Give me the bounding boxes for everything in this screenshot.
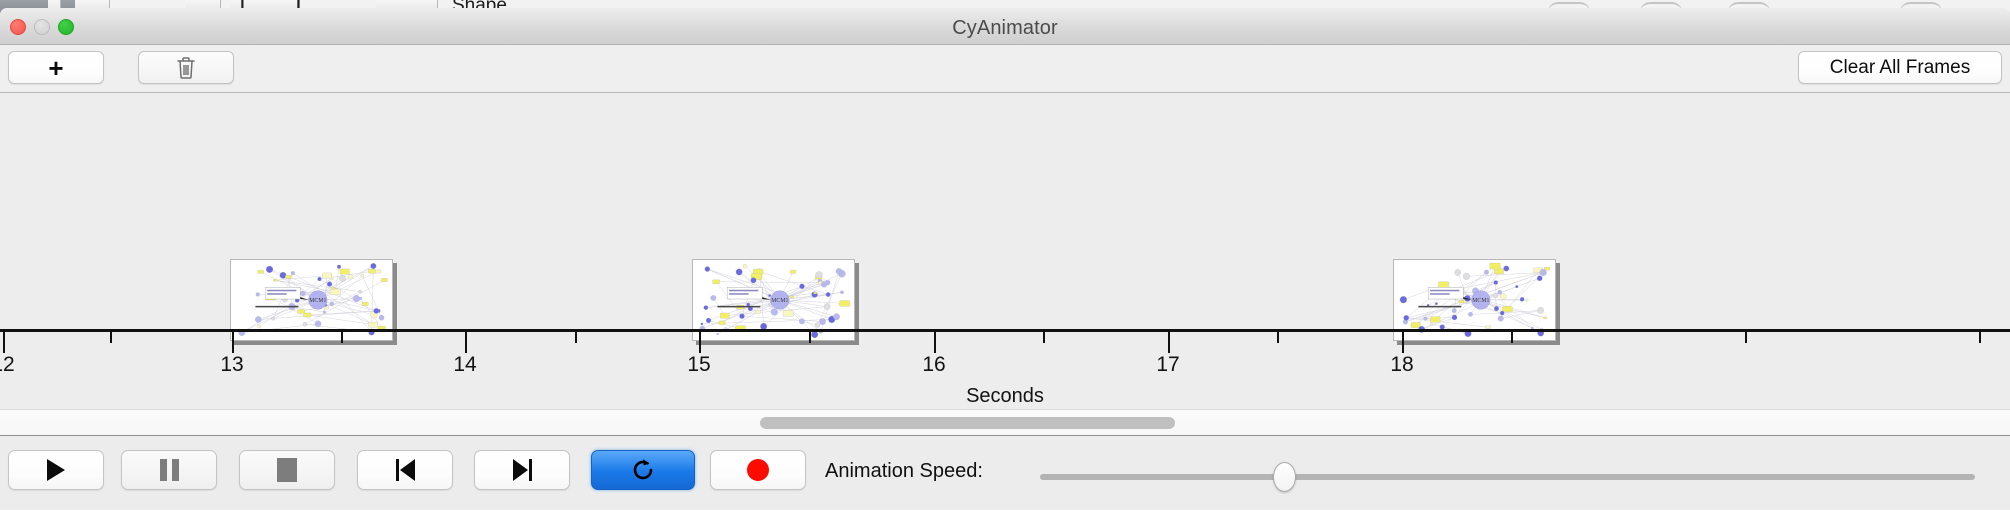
plus-icon: + (48, 55, 63, 81)
cyanimator-window: CyAnimator + Clear All Frames MCM1MCM1MC… (0, 8, 2010, 510)
ruler-tick-minor (1277, 332, 1279, 343)
scrollbar-thumb[interactable] (760, 417, 1175, 429)
window-titlebar: CyAnimator (0, 8, 2010, 45)
playback-control-bar: Animation Speed: (0, 436, 2010, 509)
ruler-tick-label: 17 (1156, 353, 1179, 377)
ruler-tick-label: 16 (922, 353, 945, 377)
animation-speed-slider-thumb[interactable] (1273, 462, 1296, 492)
skip-to-end-icon (513, 459, 532, 481)
ruler-tick-major (934, 332, 936, 353)
stop-button[interactable] (239, 450, 335, 490)
clear-all-frames-label: Clear All Frames (1830, 57, 1970, 79)
ruler-tick-major (3, 332, 5, 353)
ruler-tick-major (1402, 332, 1404, 353)
ruler-tick-minor (1745, 332, 1747, 343)
skip-to-end-button[interactable] (474, 450, 570, 490)
ruler-tick-label: 18 (1390, 353, 1413, 377)
ruler-tick-minor (341, 332, 343, 343)
timeline-ruler: 12131415161718 Seconds (0, 329, 2010, 409)
delete-frame-button[interactable] (138, 51, 234, 84)
network-graph-thumbnail: MCM1 (1394, 260, 1555, 340)
animation-speed-label: Animation Speed: (825, 460, 983, 483)
play-button[interactable] (8, 450, 104, 490)
ruler-tick-minor (1511, 332, 1513, 343)
add-frame-button[interactable]: + (8, 51, 104, 84)
frame-toolbar: + Clear All Frames (0, 45, 2010, 93)
trash-icon (176, 56, 196, 79)
network-graph-thumbnail: MCM1 (231, 260, 392, 340)
ruler-tick-minor (575, 332, 577, 343)
ruler-tick-major (699, 332, 701, 353)
window-title: CyAnimator (0, 17, 2010, 40)
ruler-tick-major (1168, 332, 1170, 353)
ruler-tick-minor (110, 332, 112, 343)
ruler-tick-label: 15 (687, 353, 710, 377)
ruler-tick-label: 14 (453, 353, 476, 377)
ruler-tick-label: 13 (220, 353, 243, 377)
svg-text:MCM1: MCM1 (771, 298, 788, 304)
pause-icon (160, 459, 179, 481)
animation-speed-slider[interactable] (1040, 474, 1975, 480)
play-icon (47, 459, 65, 481)
record-icon (747, 459, 769, 481)
ruler-tick-minor (1043, 332, 1045, 343)
ruler-tick-minor (1979, 332, 1981, 343)
ruler-tick-major (465, 332, 467, 353)
skip-to-start-button[interactable] (357, 450, 453, 490)
clear-all-frames-button[interactable]: Clear All Frames (1798, 51, 2002, 84)
stop-icon (277, 458, 297, 482)
svg-text:MCM1: MCM1 (1472, 298, 1489, 304)
ruler-tick-minor (809, 332, 811, 343)
svg-text:MCM1: MCM1 (309, 298, 326, 304)
skip-to-start-icon (396, 459, 415, 481)
timeline-canvas[interactable]: MCM1MCM1MCM1 12131415161718 Seconds (0, 93, 2010, 409)
loop-icon (630, 457, 656, 483)
pause-button[interactable] (121, 450, 217, 490)
ruler-caption: Seconds (0, 385, 2010, 408)
loop-toggle-button[interactable] (591, 450, 695, 490)
timeline-horizontal-scrollbar[interactable] (0, 409, 2010, 436)
ruler-axis-line (0, 329, 2010, 332)
ruler-tick-label: 12 (0, 353, 15, 377)
network-graph-thumbnail: MCM1 (693, 260, 854, 340)
ruler-tick-major (232, 332, 234, 353)
record-button[interactable] (710, 450, 806, 490)
